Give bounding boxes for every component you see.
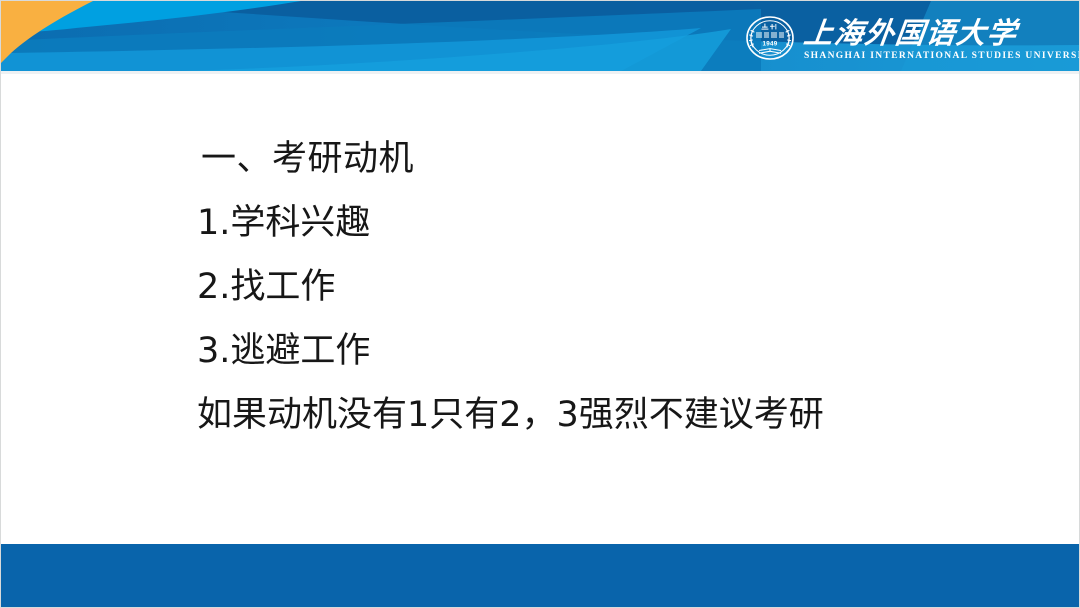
wordmark-chinese: 上海外国语大学	[802, 17, 1080, 49]
university-logo: 1949 上海外国语大学 SHANGHAI INTERNATIONAL STUD…	[745, 9, 1065, 67]
wordmark-english: SHANGHAI INTERNATIONAL STUDIES UNIVERSIT…	[804, 50, 1080, 62]
content-line-4: 如果动机没有1只有2，3强烈不建议考研	[197, 383, 1027, 447]
content-line-1: 1.学科兴趣	[197, 191, 1027, 255]
footer-banner	[1, 544, 1080, 607]
content-line-heading: 一、考研动机	[197, 127, 1027, 191]
header-underline-divider	[1, 71, 1080, 74]
svg-text:1949: 1949	[763, 40, 778, 47]
content-line-3: 3.逃避工作	[197, 319, 1027, 383]
slide-body: 一、考研动机 1.学科兴趣 2.找工作 3.逃避工作 如果动机没有1只有2，3强…	[197, 127, 1027, 447]
presentation-slide: 1949 上海外国语大学 SHANGHAI INTERNATIONAL STUD…	[0, 0, 1080, 608]
university-seal-icon: 1949	[745, 13, 795, 63]
content-line-2: 2.找工作	[197, 255, 1027, 319]
wordmark: 上海外国语大学 SHANGHAI INTERNATIONAL STUDIES U…	[804, 15, 1080, 62]
